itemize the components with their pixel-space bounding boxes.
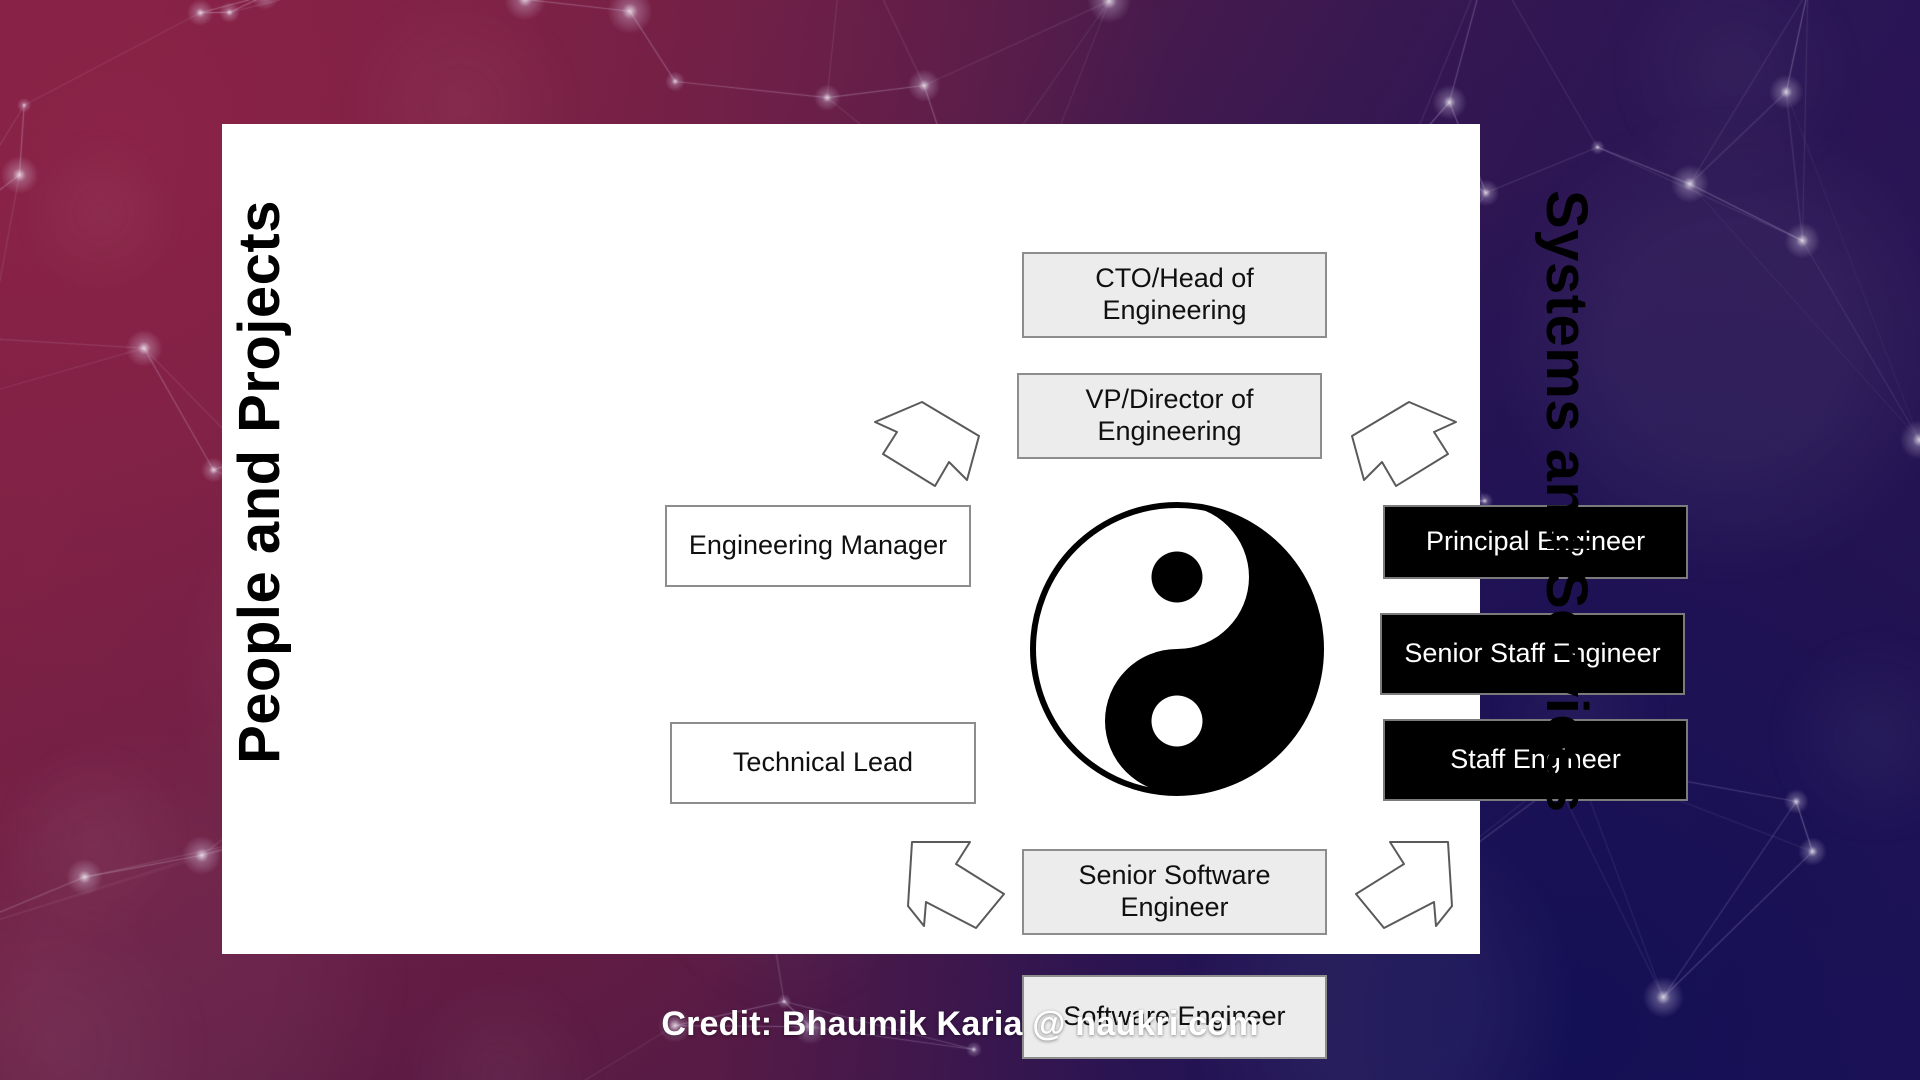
node-box-engineering-manager[interactable]: Engineering Manager — [665, 505, 971, 587]
node-label: CTO/Head of Engineering — [1034, 263, 1315, 327]
node-label: VP/Director of Engineering — [1029, 384, 1310, 448]
arrow-up-right-icon — [867, 392, 989, 488]
arrow-up-right-icon — [1344, 836, 1456, 932]
slide-background: CTO/Head of Engineering VP/Director of E… — [0, 0, 1920, 1080]
node-box-vp[interactable]: VP/Director of Engineering — [1017, 373, 1322, 459]
track-label-people-and-projects: People and Projects — [226, 200, 293, 764]
node-label: Engineering Manager — [689, 530, 947, 562]
arrow-up-left-icon — [1342, 392, 1464, 488]
slide-panel: CTO/Head of Engineering VP/Director of E… — [222, 124, 1480, 954]
track-label-systems-and-services: Systems and Services — [1533, 190, 1600, 813]
node-label: Senior Software Engineer — [1034, 860, 1315, 924]
credit-text: Credit: Bhaumik Karia @ naukri.com — [0, 1005, 1920, 1044]
node-box-cto[interactable]: CTO/Head of Engineering — [1022, 252, 1327, 338]
yin-yang-icon — [1027, 499, 1327, 799]
node-box-technical-lead[interactable]: Technical Lead — [670, 722, 976, 804]
arrow-up-left-icon — [904, 836, 1016, 932]
node-box-senior-software-engineer[interactable]: Senior Software Engineer — [1022, 849, 1327, 935]
node-label: Technical Lead — [733, 747, 913, 779]
